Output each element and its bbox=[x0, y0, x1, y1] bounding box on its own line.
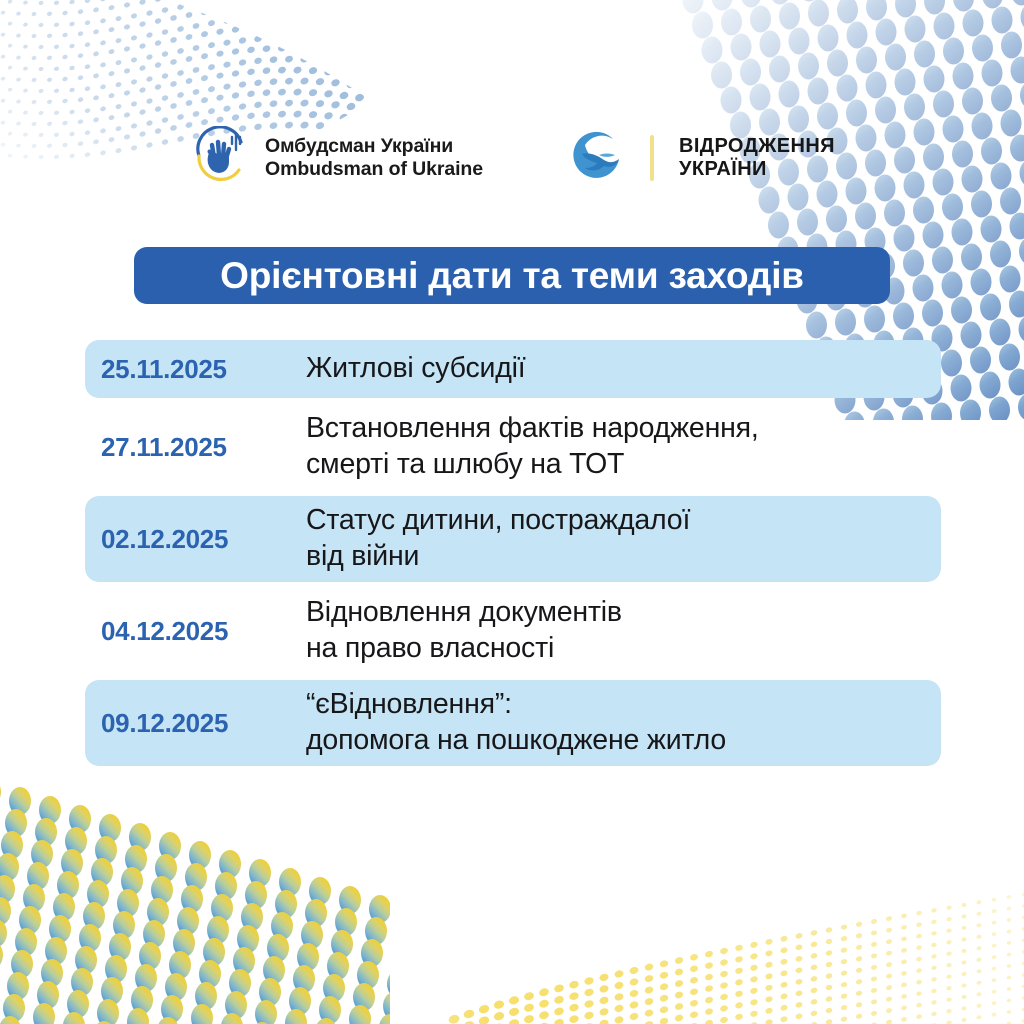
schedule-row-topic-line: від війни bbox=[306, 539, 941, 575]
schedule-list: 25.11.2025Житлові субсидії27.11.2025Вста… bbox=[85, 340, 941, 772]
ombudsman-wordmark: Омбудсман України Ombudsman of Ukraine bbox=[265, 135, 483, 181]
schedule-row-date: 27.11.2025 bbox=[101, 432, 306, 463]
infographic-page: Омбудсман України Ombudsman of Ukraine В… bbox=[0, 0, 1024, 1024]
schedule-row-topic: Відновлення документівна право власності bbox=[306, 595, 941, 667]
ombudsman-name-uk: Омбудсман України bbox=[265, 135, 483, 158]
logo-bar: Омбудсман України Ombudsman of Ukraine В… bbox=[0, 126, 1024, 190]
logo-divider bbox=[650, 135, 654, 181]
schedule-row: 02.12.2025Статус дитини, постраждалоївід… bbox=[85, 496, 941, 582]
decor-bottom-right-yellow-dot-swoosh bbox=[444, 794, 1024, 1024]
schedule-row-date: 04.12.2025 bbox=[101, 616, 306, 647]
decor-bottom-left-yellow-blue-halftone-grid bbox=[0, 734, 390, 1024]
schedule-row-topic-line: на право власності bbox=[306, 631, 941, 667]
ombudsman-name-en: Ombudsman of Ukraine bbox=[265, 158, 483, 181]
ombudsman-logo: Омбудсман України Ombudsman of Ukraine bbox=[189, 126, 483, 190]
schedule-row: 27.11.2025Встановлення фактів народження… bbox=[85, 404, 941, 490]
schedule-row-topic-line: Відновлення документів bbox=[306, 595, 941, 631]
revival-wordmark: ВІДРОДЖЕННЯ УКРАЇНИ bbox=[679, 135, 835, 181]
schedule-row: 04.12.2025Відновлення документівна право… bbox=[85, 588, 941, 674]
schedule-row-topic-line: смерті та шлюбу на ТОТ bbox=[306, 447, 941, 483]
decor-top-left-blue-dot-swoosh bbox=[0, 0, 460, 230]
schedule-row-topic-line: Статус дитини, постраждалої bbox=[306, 503, 941, 539]
schedule-row-topic-line: Встановлення фактів народження, bbox=[306, 411, 941, 447]
page-title-banner: Орієнтовні дати та теми заходів bbox=[134, 247, 890, 304]
revival-name-line1: ВІДРОДЖЕННЯ bbox=[679, 135, 835, 158]
schedule-row-date: 09.12.2025 bbox=[101, 708, 306, 739]
schedule-row-topic: Встановлення фактів народження,смерті та… bbox=[306, 411, 941, 483]
revival-bird-circle-icon bbox=[569, 128, 629, 188]
schedule-row: 25.11.2025Житлові субсидії bbox=[85, 340, 941, 398]
schedule-row-topic: Житлові субсидії bbox=[306, 351, 941, 387]
schedule-row-date: 25.11.2025 bbox=[101, 354, 306, 385]
schedule-row-topic-line: Житлові субсидії bbox=[306, 351, 941, 387]
revival-name-line2: УКРАЇНИ bbox=[679, 158, 835, 181]
schedule-row-topic-line: допомога на пошкоджене житло bbox=[306, 723, 941, 759]
schedule-row-date: 02.12.2025 bbox=[101, 524, 306, 555]
page-title: Орієнтовні дати та теми заходів bbox=[220, 255, 804, 297]
schedule-row-topic: “єВідновлення”:допомога на пошкоджене жи… bbox=[306, 687, 941, 759]
ombudsman-hand-dove-trident-icon bbox=[189, 126, 253, 190]
revival-logo: ВІДРОДЖЕННЯ УКРАЇНИ bbox=[569, 128, 835, 188]
schedule-row-topic-line: “єВідновлення”: bbox=[306, 687, 941, 723]
schedule-row-topic: Статус дитини, постраждалоївід війни bbox=[306, 503, 941, 575]
schedule-row: 09.12.2025“єВідновлення”:допомога на пош… bbox=[85, 680, 941, 766]
